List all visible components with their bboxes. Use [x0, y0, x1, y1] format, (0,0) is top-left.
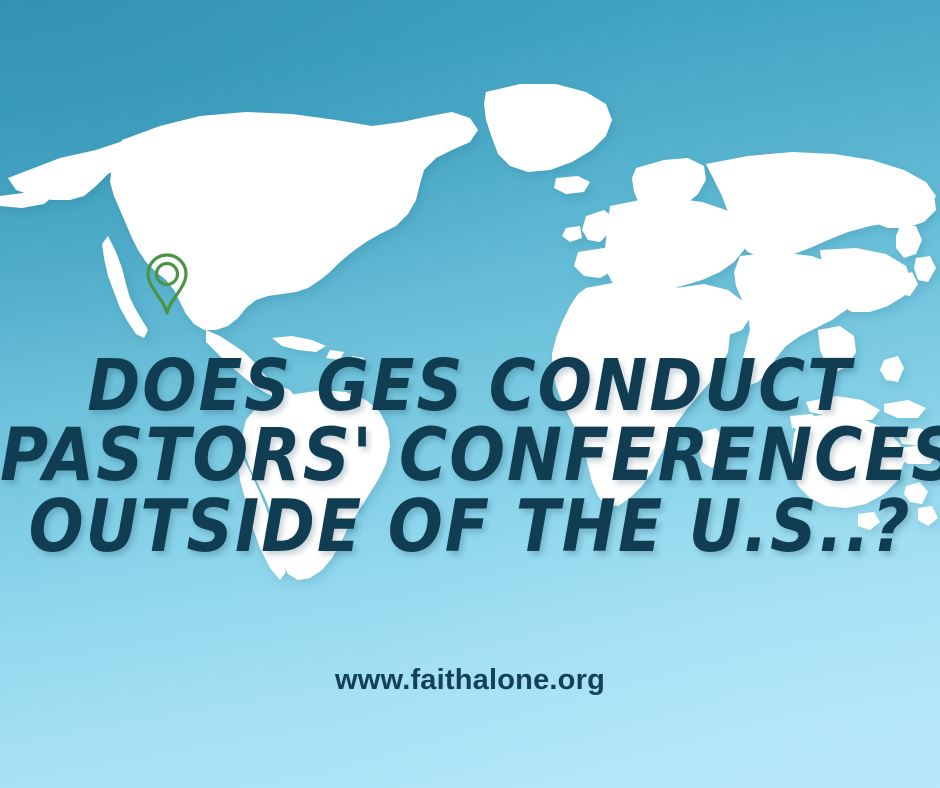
- headline-line-2: PASTORS' CONFERENCES: [0, 421, 940, 492]
- website-url[interactable]: www.faithalone.org: [0, 664, 940, 697]
- map-pin-icon: [143, 250, 191, 320]
- page-title: DOES GES CONDUCT PASTORS' CONFERENCES OU…: [0, 352, 940, 561]
- headline-line-3: OUTSIDE OF THE U.S..?: [0, 492, 940, 562]
- poster-canvas: DOES GES CONDUCT PASTORS' CONFERENCES OU…: [0, 0, 940, 788]
- headline-line-1: DOES GES CONDUCT: [0, 352, 940, 421]
